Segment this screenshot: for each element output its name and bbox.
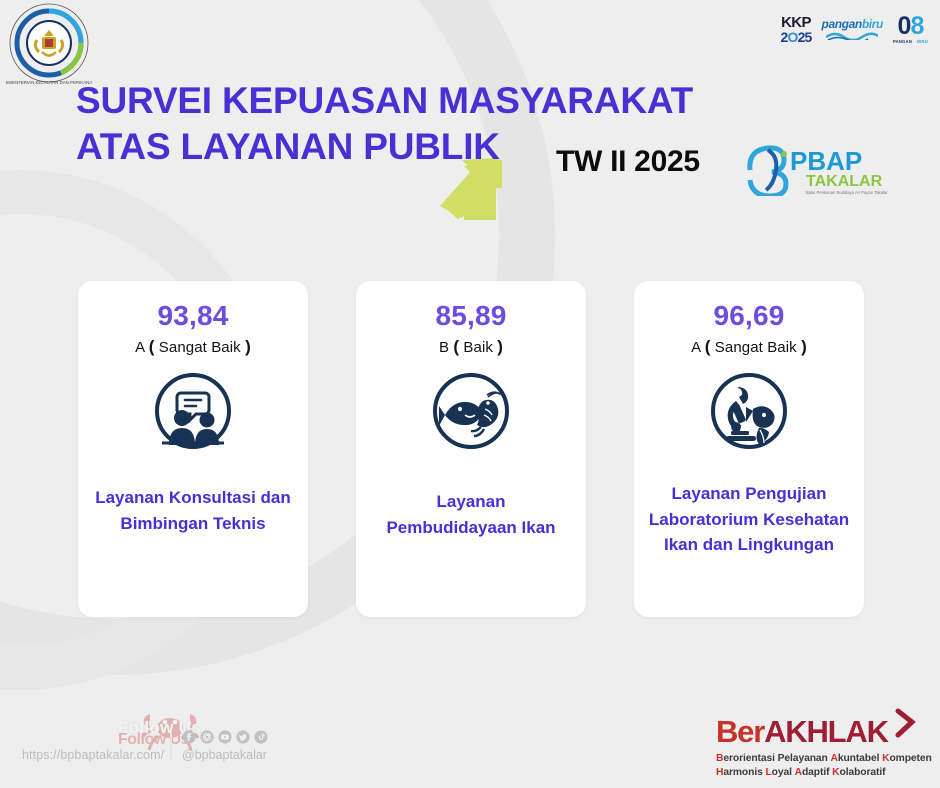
berakhlak-tagline-line1: Berorientasi Pelayanan Akuntabel Kompete… [716,752,932,766]
social-handle: @bpbaptakalar [182,748,267,762]
score-card[interactable]: 93,84 A ( Sangat Baik ) Layanan Konsulta… [78,281,308,617]
microscope-fish-icon [709,371,789,451]
score-card-group: 93,84 A ( Sangat Baik ) Layanan Konsulta… [78,281,864,617]
berakhlak-wordmark: BerAKHLAK [716,716,888,747]
ministry-seal-logo: KEMENTERIAN KELAUTAN DAN PERIKANAN [6,0,92,86]
card-label: Layanan Pengujian Laboratorium Kesehatan… [634,481,864,558]
consultation-people-icon [153,371,233,451]
kkp-logo-text: KKP [781,15,811,30]
score-value: 93,84 [157,301,228,332]
youtube-icon[interactable] [218,730,232,744]
tiktok-icon[interactable] [254,730,268,744]
berakhlak-logo: BerAKHLAK Berorientasi Pelayanan Akuntab… [706,706,932,780]
footer-social-block: Follow Us Follow Us https://bpbaptakalar… [22,700,322,780]
score-value: 96,69 [713,301,784,332]
score-card[interactable]: 85,89 B ( Baik ) Layanan Pembudidayaan I… [356,281,586,617]
grade-label: B ( Baik ) [439,337,503,357]
hut-08-sub: PANGANBIRU [893,40,928,44]
chevron-right-icon [892,708,918,738]
panganbiru-logo: panganbiru [822,18,883,40]
top-logo-group: KKP 2O25 panganbiru 08 PANGANBIRU [780,14,928,44]
kkp-logo-year: 2O25 [780,30,811,44]
card-label: Layanan Pembudidayaan Ikan [356,489,586,541]
svg-text:TAKALAR: TAKALAR [806,173,883,190]
bpbap-takalar-logo: PBAP TAKALAR Balai Perikanan Budidaya Ai… [744,140,934,196]
hut-08-logo: 08 PANGANBIRU [893,14,928,44]
wave-icon [826,31,878,40]
grade-label: A ( Sangat Baik ) [691,337,807,357]
svg-text:PBAP: PBAP [790,146,862,176]
svg-text:Balai Perikanan Budidaya Air P: Balai Perikanan Budidaya Air Payau Takal… [806,190,888,195]
grade-label: A ( Sangat Baik ) [135,337,251,357]
instagram-icon[interactable] [200,730,214,744]
footer-divider [170,732,172,760]
panganbiru-text: panganbiru [822,18,883,30]
berakhlak-tagline-line2: Harmonis Loyal Adaptif Kolaboratif [716,766,932,780]
card-label: Layanan Konsultasi dan Bimbingan Teknis [78,485,308,537]
social-icon-group [182,730,268,744]
score-card[interactable]: 96,69 A ( Sangat Baik ) Layanan Pengujia… [634,281,864,617]
page-title-line1: SURVEI KEPUASAN MASYARAKAT [76,80,693,121]
hut-08-digits: 08 [898,14,924,39]
facebook-icon[interactable] [182,730,196,744]
score-value: 85,89 [435,301,506,332]
period-badge: TW II 2025 [556,145,700,179]
kkp-2025-logo: KKP 2O25 [780,15,811,44]
fish-shrimp-icon [431,371,511,451]
twitter-icon[interactable] [236,730,250,744]
website-url[interactable]: https://bpbaptakalar.com/ [22,748,164,762]
arrow-up-right-dark-icon [438,152,504,216]
berakhlak-tagline: Berorientasi Pelayanan Akuntabel Kompete… [716,752,932,780]
